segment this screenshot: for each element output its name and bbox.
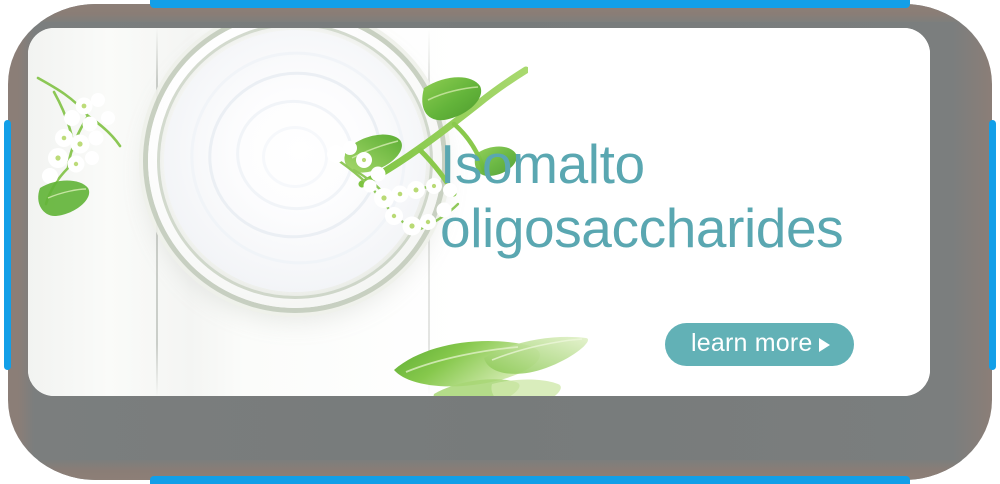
accent-edge-bottom — [150, 476, 910, 484]
banner-canvas: Isomalto oligosaccharides learn more — [0, 0, 1000, 484]
white-flower-cluster-icon — [34, 72, 152, 222]
green-leaves-icon — [388, 328, 598, 396]
cream-swirl — [262, 126, 328, 188]
accent-edge-right — [989, 120, 996, 370]
accent-edge-left — [4, 120, 11, 370]
content-card: Isomalto oligosaccharides learn more — [28, 28, 930, 396]
page-title: Isomalto oligosaccharides — [440, 132, 920, 260]
learn-more-button[interactable]: learn more — [665, 323, 854, 366]
play-triangle-right-icon — [819, 338, 830, 352]
headline-block: Isomalto oligosaccharides — [440, 132, 920, 260]
learn-more-label: learn more — [691, 331, 813, 359]
accent-edge-top — [150, 0, 910, 8]
